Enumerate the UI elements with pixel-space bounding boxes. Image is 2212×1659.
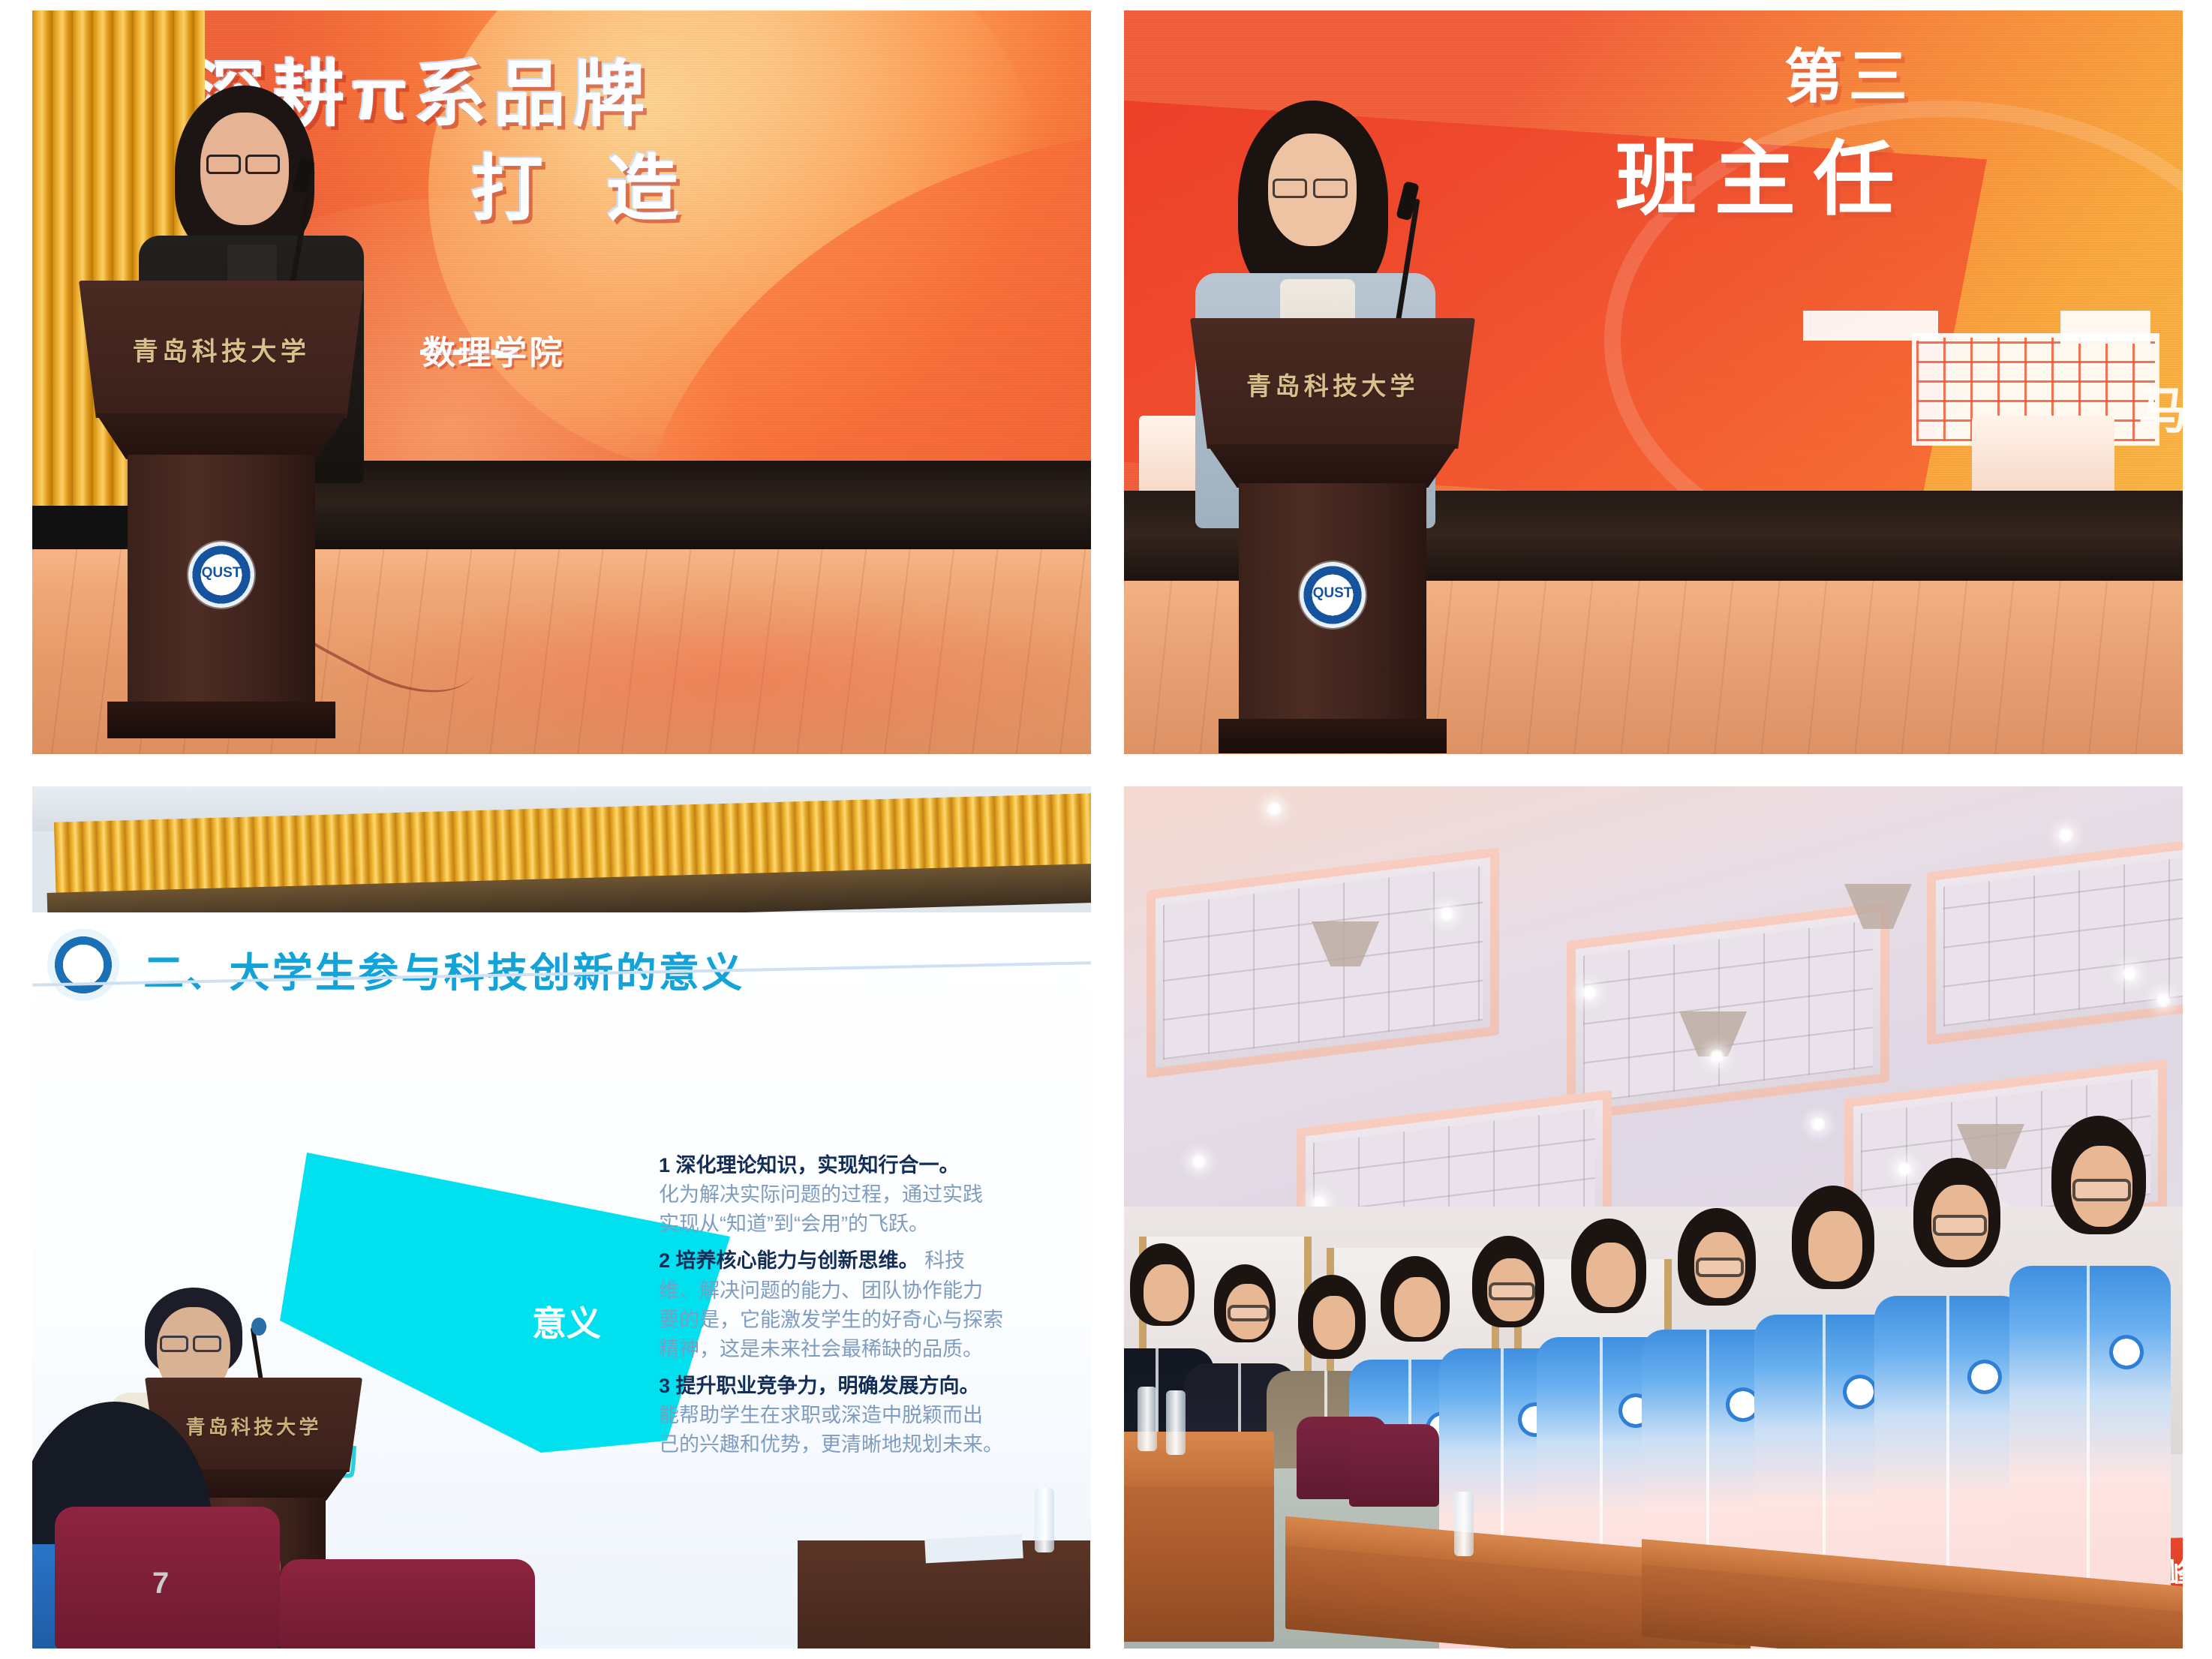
podium-name-plate: 青岛科技大学 [79,331,364,368]
photo-panel-top-right: 第三 班主任 马 青岛科技大学 [1124,11,2183,754]
point-2-number: 2 [659,1249,670,1272]
uniform-badge-icon [1843,1375,1877,1409]
point-1-body-line2: 实现从“知道”到“会用”的飞跃。 [659,1213,929,1235]
microphone-head [251,1318,266,1336]
glasses-right-lens [1313,179,1348,198]
point-3-body-line2: 己的兴趣和优势，更清晰地规划未来。 [659,1433,1003,1456]
point-2-body-line3: 要的是，它能激发学生的好奇心与探索 [659,1309,1003,1331]
ceiling-downlight [2058,828,2073,843]
glasses-right-lens [193,1336,221,1352]
glasses-right-lens [245,155,280,174]
point-2-heading: 培养核心能力与创新思维。 [676,1249,919,1272]
ceiling-coffer [1927,835,2183,1044]
campus-building-tower [2060,311,2150,344]
ceiling-downlight [2156,993,2171,1008]
ceiling-tile-grid [1943,854,2183,1026]
auditorium-background: 深耕π系品牌 打 造 数理学院 青岛科技大学 [32,11,1091,754]
qust-seal-icon [188,542,254,608]
led-headline-line2: 打 造 [471,131,700,235]
photo-collage: 深耕π系品牌 打 造 数理学院 青岛科技大学 [0,0,2212,1659]
ceiling-downlight [1582,985,1597,1000]
uniform-badge-icon [1967,1360,2002,1394]
led-subtitle: 数理学院 [422,326,565,374]
point-2-body-line2: 维、解决问题的能力、团队协作能力 [659,1279,983,1302]
face [1313,1296,1355,1350]
photo-panel-bottom-right: 深化人才强校 构筑学科高峰 增 [1124,786,2183,1648]
stage-pedestal-right [1972,416,2114,497]
auditorium-seat[interactable] [280,1559,535,1648]
campus-building-roof [1803,311,1938,341]
point-3-body-line1: 能帮助学生在求职或深造中脱颖而出 [659,1404,983,1426]
face [1394,1277,1441,1337]
ceiling-downlight [1267,801,1282,816]
ceiling-downlight [1811,1117,1826,1132]
podium-base [1219,719,1447,753]
ceiling-downlight [1897,1162,1912,1177]
slide-body-text: 1 深化理论知识，实现知行合一。 化为解决实际问题的过程，通过实践 实现从“知道… [659,1151,1091,1467]
glasses-left-lens [160,1336,188,1352]
water-bottle [1138,1387,1157,1451]
hall-ceiling [1124,786,2183,1237]
qust-logo-icon [47,929,119,1001]
point-3-heading: 提升职业竞争力，明确发展方向。 [676,1375,980,1397]
glasses [1489,1282,1535,1300]
water-bottle [1035,1488,1054,1552]
led-headline-line2: 班主任 [1615,114,1912,231]
face [1586,1243,1636,1307]
podium-mid [96,413,347,459]
ceiling-coffer [1147,847,1499,1078]
point-2-body-line4: 精神，这是未来社会最稀缺的品质。 [659,1338,983,1360]
uniform-badge-icon [2109,1335,2144,1369]
led-side-character: 马 [2138,371,2183,443]
glasses [1228,1305,1270,1321]
side-desk [1124,1432,1274,1642]
water-bottle [1166,1390,1186,1455]
qust-seal-icon [1300,562,1366,628]
water-bottle [1454,1492,1474,1556]
glasses [1933,1215,1987,1236]
podium-mid [1207,444,1458,488]
ceiling-downlight [1192,1154,1207,1169]
seat-number-label: 7 [152,1567,169,1600]
slide-point-2: 2 培养核心能力与创新思维。 科技 维、解决问题的能力、团队协作能力 要的是，它… [659,1246,1091,1364]
paper-sheet [924,1534,1023,1564]
point-1-number: 1 [659,1154,670,1177]
podium: 青岛科技大学 [79,281,364,738]
ceiling-tile-grid [1163,866,1483,1059]
ceiling-downlight [2122,966,2137,981]
photo-panel-top-left: 深耕π系品牌 打 造 数理学院 青岛科技大学 [32,11,1091,754]
podium-name-plate: 青岛科技大学 [1190,366,1475,402]
slide-point-3: 3 提升职业竞争力，明确发展方向。 能帮助学生在求职或深造中脱颖而出 己的兴趣和… [659,1372,1091,1459]
point-1-body-line1: 化为解决实际问题的过程，通过实践 [659,1183,983,1206]
glasses-left-lens [1273,179,1307,198]
slide-fan-label: 意义 [532,1297,601,1346]
photo-panel-bottom-left: 二、大学生参与科技创新的意义 意义 对个人成长的 意义与价值 坚实基石 1 深化… [32,786,1091,1648]
slide-title: 二、大学生参与科技创新的意义 [143,939,744,999]
point-1-heading: 深化理论知识，实现知行合一。 [676,1154,960,1177]
glasses [1696,1258,1744,1277]
point-3-number: 3 [659,1375,670,1397]
podium-base [107,702,335,738]
glasses-left-lens [206,155,241,174]
podium: 青岛科技大学 [1190,318,1475,753]
point-2-body-line1: 科技 [924,1249,965,1272]
face [1808,1211,1862,1282]
led-headline-line1: 第三 [1784,30,1913,114]
ceiling-downlight [1439,906,1454,921]
face [1144,1264,1189,1321]
glasses [2072,1179,2131,1201]
auditorium-seat[interactable] [1349,1424,1439,1507]
slide-point-1: 1 深化理论知识，实现知行合一。 化为解决实际问题的过程，通过实践 实现从“知道… [659,1151,1091,1239]
ceiling-downlight [1709,1049,1724,1064]
